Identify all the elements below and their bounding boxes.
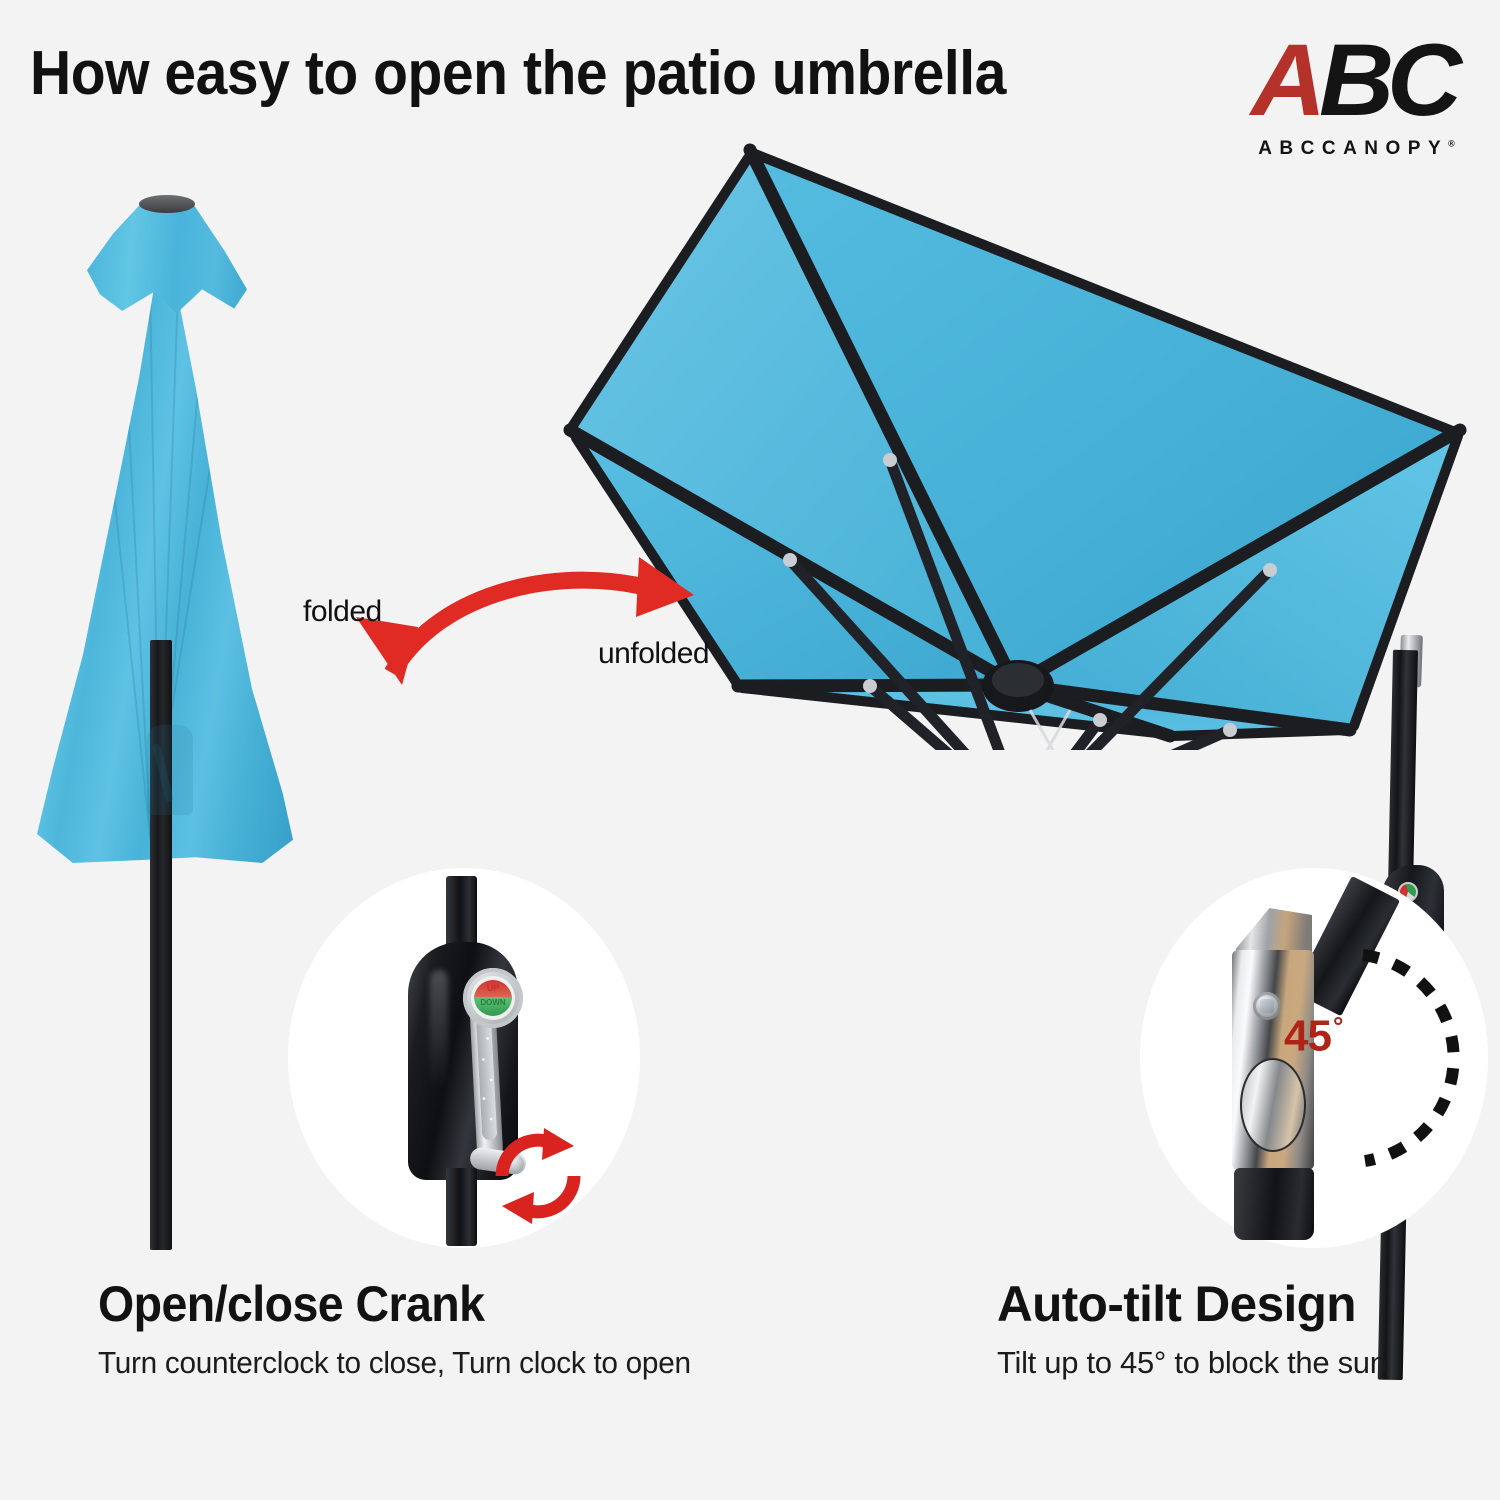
up-down-dial: UP DOWN xyxy=(463,968,523,1028)
crank-detail-callout: UP DOWN xyxy=(288,868,640,1248)
caption-tilt-title: Auto-tilt Design xyxy=(997,1278,1492,1331)
caption-crank: Open/close Crank Turn counterclock to cl… xyxy=(98,1278,858,1381)
tilt-button-oval xyxy=(1240,1058,1306,1152)
caption-tilt: Auto-tilt Design Tilt up to 45° to block… xyxy=(997,1278,1497,1381)
logo-letter-a: A xyxy=(1251,23,1319,137)
fold-unfold-arrow xyxy=(330,555,720,695)
caption-crank-title: Open/close Crank xyxy=(98,1278,805,1331)
logo-mark: ABC xyxy=(1226,26,1481,136)
crank-pole-lower xyxy=(446,1168,477,1246)
folded-umbrella xyxy=(35,195,295,875)
tilt-angle-number: 45 xyxy=(1284,1012,1331,1061)
tilt-lower-pole xyxy=(1234,1168,1314,1240)
degree-symbol: ° xyxy=(1333,1011,1342,1041)
page-title: How easy to open the patio umbrella xyxy=(30,40,1006,108)
label-unfolded: unfolded xyxy=(598,637,709,671)
umbrella-finial xyxy=(139,195,195,213)
rotation-arrow-icon xyxy=(478,1116,598,1236)
tilt-angle-value: 45° xyxy=(1284,1011,1342,1062)
dial-face: UP DOWN xyxy=(471,976,515,1020)
folded-canopy-clip xyxy=(147,725,193,815)
open-umbrella xyxy=(470,130,1500,890)
dial-down-label: DOWN xyxy=(471,998,515,1007)
logo-letters-bc: BC xyxy=(1319,23,1455,137)
dial-up-label: UP xyxy=(471,983,515,993)
caption-crank-subtitle: Turn counterclock to close, Turn clock t… xyxy=(98,1345,828,1381)
tilt-detail-callout: 45° xyxy=(1140,868,1488,1248)
caption-tilt-subtitle: Tilt up to 45° to block the sun xyxy=(997,1345,1497,1381)
tilt-screw-icon xyxy=(1253,992,1281,1020)
label-folded: folded xyxy=(303,595,382,629)
infographic-page: How easy to open the patio umbrella ABC … xyxy=(0,0,1500,1500)
